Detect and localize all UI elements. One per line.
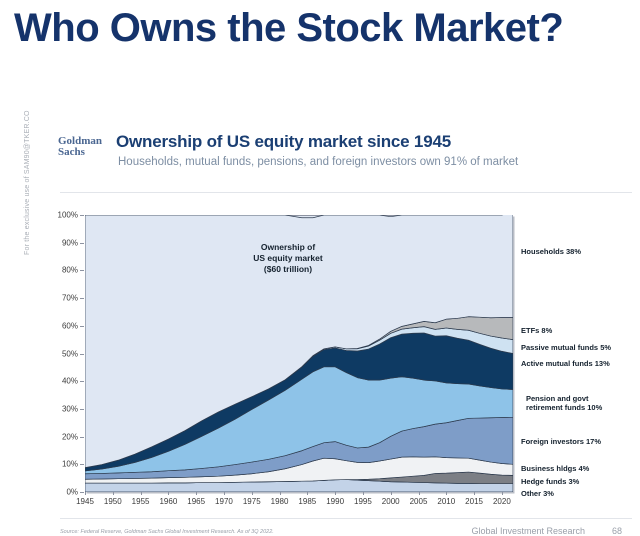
x-axis-label: 1970 bbox=[215, 497, 233, 506]
x-axis-tick bbox=[419, 492, 420, 495]
y-axis-tick bbox=[80, 409, 84, 410]
y-axis-tick bbox=[80, 437, 84, 438]
y-axis-label: 0% bbox=[66, 488, 78, 497]
slide-subtitle: Households, mutual funds, pensions, and … bbox=[118, 156, 518, 168]
x-axis-label: 1955 bbox=[132, 497, 150, 506]
x-axis-label: 1975 bbox=[243, 497, 261, 506]
x-axis-label: 2005 bbox=[410, 497, 428, 506]
x-axis-tick bbox=[391, 492, 392, 495]
y-axis-label: 50% bbox=[62, 349, 78, 358]
x-axis-tick bbox=[474, 492, 475, 495]
source-note: Source: Federal Reserve, Goldman Sachs G… bbox=[60, 529, 274, 535]
x-axis-tick bbox=[307, 492, 308, 495]
x-axis-label: 1960 bbox=[159, 497, 177, 506]
y-axis-label: 80% bbox=[62, 266, 78, 275]
annotation-line-3: ($60 trillion) bbox=[213, 264, 363, 275]
x-axis-tick bbox=[141, 492, 142, 495]
y-axis-label: 10% bbox=[62, 460, 78, 469]
y-axis-label: 30% bbox=[62, 404, 78, 413]
page-title: Who Owns the Stock Market? bbox=[14, 4, 563, 52]
x-axis-tick bbox=[280, 492, 281, 495]
x-axis-label: 1990 bbox=[326, 497, 344, 506]
x-axis-label: 1945 bbox=[76, 497, 94, 506]
y-axis-tick bbox=[80, 215, 84, 216]
y-axis-tick bbox=[80, 381, 84, 382]
x-axis-tick bbox=[196, 492, 197, 495]
series-callout-label: Households 38% bbox=[521, 247, 581, 257]
series-callout-label: Foreign investors 17% bbox=[521, 437, 601, 447]
x-axis-label: 1950 bbox=[104, 497, 122, 506]
y-axis-tick bbox=[80, 326, 84, 327]
y-axis-tick bbox=[80, 243, 84, 244]
series-callout-label: Active mutual funds 13% bbox=[521, 359, 610, 369]
y-axis-label: 90% bbox=[62, 238, 78, 247]
x-axis-label: 1985 bbox=[298, 497, 316, 506]
y-axis-tick bbox=[80, 354, 84, 355]
series-callout-label: retirement funds 10% bbox=[526, 403, 602, 413]
y-axis-label: 60% bbox=[62, 321, 78, 330]
x-axis-label: 2010 bbox=[437, 497, 455, 506]
x-axis-label: 1965 bbox=[187, 497, 205, 506]
y-axis-tick bbox=[80, 270, 84, 271]
goldman-sachs-logo: Goldman Sachs bbox=[58, 136, 102, 158]
series-callout-label: Hedge funds 3% bbox=[521, 477, 579, 487]
x-axis-label: 2015 bbox=[465, 497, 483, 506]
annotation-line-2: US equity market bbox=[213, 253, 363, 264]
brand-line-2: Sachs bbox=[58, 147, 102, 158]
header-divider bbox=[60, 192, 632, 193]
x-axis-tick bbox=[252, 492, 253, 495]
annotation-line-1: Ownership of bbox=[213, 242, 363, 253]
x-axis-label: 2000 bbox=[382, 497, 400, 506]
x-axis-label: 1995 bbox=[354, 497, 372, 506]
x-axis-tick bbox=[113, 492, 114, 495]
y-axis-label: 70% bbox=[62, 294, 78, 303]
series-callout-label: Business hldgs 4% bbox=[521, 464, 589, 474]
y-axis-tick bbox=[80, 464, 84, 465]
y-axis-tick bbox=[80, 492, 84, 493]
y-axis-label: 100% bbox=[58, 211, 78, 220]
series-callout-label: Other 3% bbox=[521, 489, 554, 499]
exclusive-use-watermark: For the exclusive use of SAM90@TKER.CO bbox=[24, 75, 31, 255]
page-number: 68 bbox=[612, 526, 622, 536]
stacked-area-chart: 0%10%20%30%40%50%60%70%80%90%100% 194519… bbox=[85, 215, 513, 492]
x-axis-tick bbox=[335, 492, 336, 495]
x-axis-tick bbox=[85, 492, 86, 495]
slide-title: Ownership of US equity market since 1945 bbox=[116, 132, 451, 152]
x-axis-tick bbox=[224, 492, 225, 495]
division-label: Global Investment Research bbox=[471, 526, 585, 536]
x-axis-label: 2020 bbox=[493, 497, 511, 506]
chart-annotation: Ownership of US equity market ($60 trill… bbox=[213, 242, 363, 275]
y-axis-label: 20% bbox=[62, 432, 78, 441]
x-axis-tick bbox=[363, 492, 364, 495]
x-axis-tick bbox=[446, 492, 447, 495]
x-axis-label: 1980 bbox=[271, 497, 289, 506]
footer-divider bbox=[60, 518, 632, 519]
y-axis-tick bbox=[80, 298, 84, 299]
series-callout-label: Passive mutual funds 5% bbox=[521, 343, 611, 353]
slide-card: Goldman Sachs Ownership of US equity mar… bbox=[0, 60, 640, 487]
y-axis-label: 40% bbox=[62, 377, 78, 386]
series-callout-label: ETFs 8% bbox=[521, 326, 552, 336]
x-axis-tick bbox=[502, 492, 503, 495]
x-axis-tick bbox=[168, 492, 169, 495]
